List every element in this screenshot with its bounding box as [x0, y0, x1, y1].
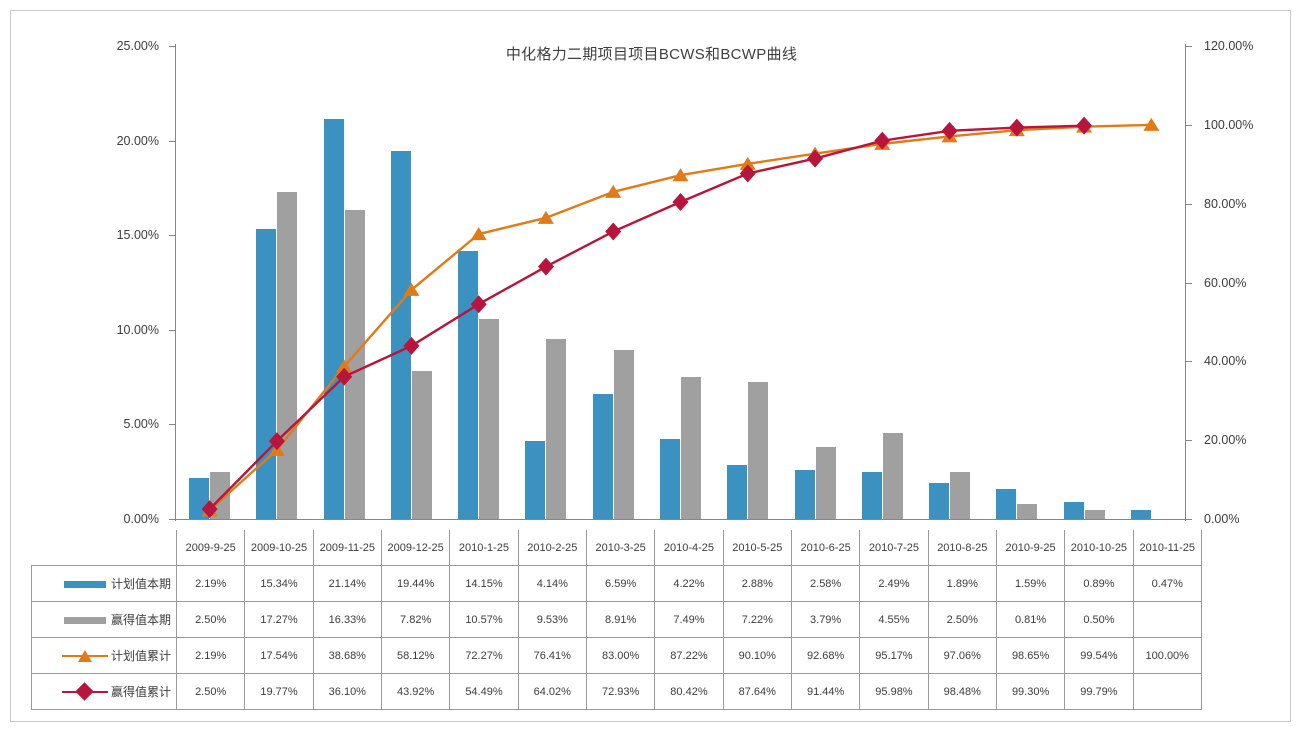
data-table-cell: 2.49%	[860, 566, 928, 602]
data-table-cell: 99.79%	[1065, 674, 1133, 710]
data-table-cell: 54.49%	[450, 674, 518, 710]
data-table-corner	[32, 530, 177, 566]
data-table-cell: 19.44%	[381, 566, 449, 602]
data-table-column-header: 2010-3-25	[586, 530, 654, 566]
data-table-column-header: 2010-6-25	[791, 530, 859, 566]
legend-bar-swatch-icon	[62, 577, 108, 591]
data-table-cell: 19.77%	[245, 674, 313, 710]
data-table-cell: 10.57%	[450, 602, 518, 638]
marker-diamond	[673, 193, 689, 211]
y-axis-right-tick-label: 60.00%	[1204, 276, 1246, 290]
legend-bar-icon	[64, 581, 106, 588]
data-table-cell: 15.34%	[245, 566, 313, 602]
series-legend-cell: 赢得值累计	[32, 674, 177, 710]
x-axis-line	[175, 519, 1186, 520]
data-table-cell: 17.54%	[245, 638, 313, 674]
y-axis-right-tick-label: 40.00%	[1204, 354, 1246, 368]
data-table-column-header: 2010-1-25	[450, 530, 518, 566]
y-axis-left-tick-label: 10.00%	[117, 323, 159, 337]
data-table-cell: 2.50%	[177, 602, 245, 638]
data-table-cell: 87.22%	[655, 638, 723, 674]
y-axis-left-tick	[169, 46, 175, 47]
data-table-cell: 9.53%	[518, 602, 586, 638]
table-row: 赢得值累计2.50%19.77%36.10%43.92%54.49%64.02%…	[32, 674, 1202, 710]
data-table-cell: 2.50%	[177, 674, 245, 710]
data-table-cell: 0.47%	[1133, 566, 1201, 602]
data-table-cell: 97.06%	[928, 638, 996, 674]
data-table-head: 2009-9-252009-10-252009-11-252009-12-252…	[32, 530, 1202, 566]
data-table-cell: 0.89%	[1065, 566, 1133, 602]
legend-line-swatch-icon	[62, 649, 108, 663]
data-table-column-header: 2009-10-25	[245, 530, 313, 566]
legend-line-swatch-icon	[62, 685, 108, 699]
data-table-cell: 100.00%	[1133, 638, 1201, 674]
y-axis-left-tick	[169, 235, 175, 236]
series-legend-cell: 赢得值本期	[32, 602, 177, 638]
legend-diamond-marker-icon	[75, 682, 93, 700]
y-axis-left-tick	[169, 141, 175, 142]
series-name-label: 赢得值本期	[111, 613, 171, 627]
marker-diamond	[605, 223, 621, 241]
line-plan	[210, 125, 1152, 511]
y-axis-right-tick	[1186, 46, 1192, 47]
data-table-cell: 3.79%	[791, 602, 859, 638]
data-table-header-row: 2009-9-252009-10-252009-11-252009-12-252…	[32, 530, 1202, 566]
legend-bar-icon	[64, 617, 106, 624]
chart-frame: 中化格力二期项目项目BCWS和BCWP曲线 0.00%5.00%10.00%15…	[10, 10, 1291, 722]
data-table-column-header: 2010-5-25	[723, 530, 791, 566]
data-table-cell: 2.58%	[791, 566, 859, 602]
data-table-cell: 99.54%	[1065, 638, 1133, 674]
y-axis-left-tick	[169, 330, 175, 331]
chart-plot-region: 中化格力二期项目项目BCWS和BCWP曲线 0.00%5.00%10.00%15…	[11, 11, 1292, 530]
y-axis-right-tick-label: 100.00%	[1204, 118, 1253, 132]
data-table-cell: 64.02%	[518, 674, 586, 710]
y-axis-left-tick	[169, 424, 175, 425]
line-series-layer	[176, 46, 1185, 519]
y-axis-right-tick-label: 0.00%	[1204, 512, 1239, 526]
y-axis-right-tick	[1186, 519, 1192, 520]
y-axis-left-tick-label: 20.00%	[117, 134, 159, 148]
data-table-column-header: 2010-10-25	[1065, 530, 1133, 566]
data-table-cell: 4.14%	[518, 566, 586, 602]
data-table-cell: 98.48%	[928, 674, 996, 710]
data-table-column-header: 2010-8-25	[928, 530, 996, 566]
y-axis-left-tick-label: 5.00%	[124, 417, 159, 431]
y-axis-left-tick-label: 25.00%	[117, 39, 159, 53]
data-table-cell: 99.30%	[996, 674, 1064, 710]
data-table-cell: 95.17%	[860, 638, 928, 674]
data-table-cell: 43.92%	[381, 674, 449, 710]
y-axis-right-tick	[1186, 204, 1192, 205]
y-axis-right-tick	[1186, 361, 1192, 362]
data-table-cell: 90.10%	[723, 638, 791, 674]
y-axis-left-tick-label: 0.00%	[124, 512, 159, 526]
y-axis-right-tick-label: 20.00%	[1204, 433, 1246, 447]
data-table-wrap: 2009-9-252009-10-252009-11-252009-12-252…	[31, 530, 1186, 706]
y-axis-left-tick	[169, 519, 175, 520]
data-table-cell: 0.50%	[1065, 602, 1133, 638]
data-table-cell: 2.19%	[177, 638, 245, 674]
series-legend-cell: 计划值累计	[32, 638, 177, 674]
table-row: 计划值本期2.19%15.34%21.14%19.44%14.15%4.14%6…	[32, 566, 1202, 602]
data-table-column-header: 2010-11-25	[1133, 530, 1201, 566]
y-axis-right-tick-label: 80.00%	[1204, 197, 1246, 211]
series-name-label: 计划值累计	[111, 649, 171, 663]
data-table-cell: 2.50%	[928, 602, 996, 638]
data-table-cell: 98.65%	[996, 638, 1064, 674]
series-name-label: 赢得值累计	[111, 685, 171, 699]
data-table-cell: 14.15%	[450, 566, 518, 602]
data-table-cell	[1133, 602, 1201, 638]
data-table-column-header: 2010-2-25	[518, 530, 586, 566]
data-table-cell: 6.59%	[586, 566, 654, 602]
marker-diamond	[471, 295, 487, 313]
series-legend-cell: 计划值本期	[32, 566, 177, 602]
y-axis-right-tick-label: 120.00%	[1204, 39, 1253, 53]
data-table-column-header: 2009-9-25	[177, 530, 245, 566]
data-table-cell	[1133, 674, 1201, 710]
data-table-cell: 2.19%	[177, 566, 245, 602]
y-axis-right-tick	[1186, 125, 1192, 126]
data-table-cell: 4.55%	[860, 602, 928, 638]
data-table-column-header: 2010-7-25	[860, 530, 928, 566]
data-table-cell: 8.91%	[586, 602, 654, 638]
data-table-cell: 80.42%	[655, 674, 723, 710]
table-row: 计划值累计2.19%17.54%38.68%58.12%72.27%76.41%…	[32, 638, 1202, 674]
y-axis-left-tick-label: 15.00%	[117, 228, 159, 242]
data-table-cell: 7.22%	[723, 602, 791, 638]
data-table-column-header: 2010-9-25	[996, 530, 1064, 566]
data-table-cell: 0.81%	[996, 602, 1064, 638]
data-table: 2009-9-252009-10-252009-11-252009-12-252…	[31, 530, 1202, 710]
marker-triangle	[538, 211, 554, 224]
legend-bar-swatch-icon	[62, 613, 108, 627]
data-table-cell: 1.59%	[996, 566, 1064, 602]
data-table-cell: 2.88%	[723, 566, 791, 602]
data-table-cell: 87.64%	[723, 674, 791, 710]
data-table-column-header: 2009-11-25	[313, 530, 381, 566]
data-table-cell: 4.22%	[655, 566, 723, 602]
data-table-body: 计划值本期2.19%15.34%21.14%19.44%14.15%4.14%6…	[32, 566, 1202, 710]
data-table-cell: 1.89%	[928, 566, 996, 602]
data-table-cell: 38.68%	[313, 638, 381, 674]
data-table-cell: 76.41%	[518, 638, 586, 674]
data-table-cell: 91.44%	[791, 674, 859, 710]
y-axis-right-tick	[1186, 283, 1192, 284]
y-axis-right-tick	[1186, 440, 1192, 441]
series-name-label: 计划值本期	[111, 577, 171, 591]
legend-triangle-marker-icon	[78, 650, 92, 662]
table-row: 赢得值本期2.50%17.27%16.33%7.82%10.57%9.53%8.…	[32, 602, 1202, 638]
data-table-cell: 36.10%	[313, 674, 381, 710]
marker-diamond	[403, 337, 419, 355]
data-table-column-header: 2010-4-25	[655, 530, 723, 566]
data-table-cell: 92.68%	[791, 638, 859, 674]
data-table-cell: 83.00%	[586, 638, 654, 674]
data-table-cell: 58.12%	[381, 638, 449, 674]
data-table-cell: 72.93%	[586, 674, 654, 710]
data-table-cell: 17.27%	[245, 602, 313, 638]
data-table-cell: 95.98%	[860, 674, 928, 710]
data-table-cell: 72.27%	[450, 638, 518, 674]
data-table-cell: 7.82%	[381, 602, 449, 638]
data-table-cell: 7.49%	[655, 602, 723, 638]
data-table-cell: 16.33%	[313, 602, 381, 638]
data-table-column-header: 2009-12-25	[381, 530, 449, 566]
marker-diamond	[538, 258, 554, 276]
data-table-cell: 21.14%	[313, 566, 381, 602]
plot-area	[176, 46, 1185, 519]
